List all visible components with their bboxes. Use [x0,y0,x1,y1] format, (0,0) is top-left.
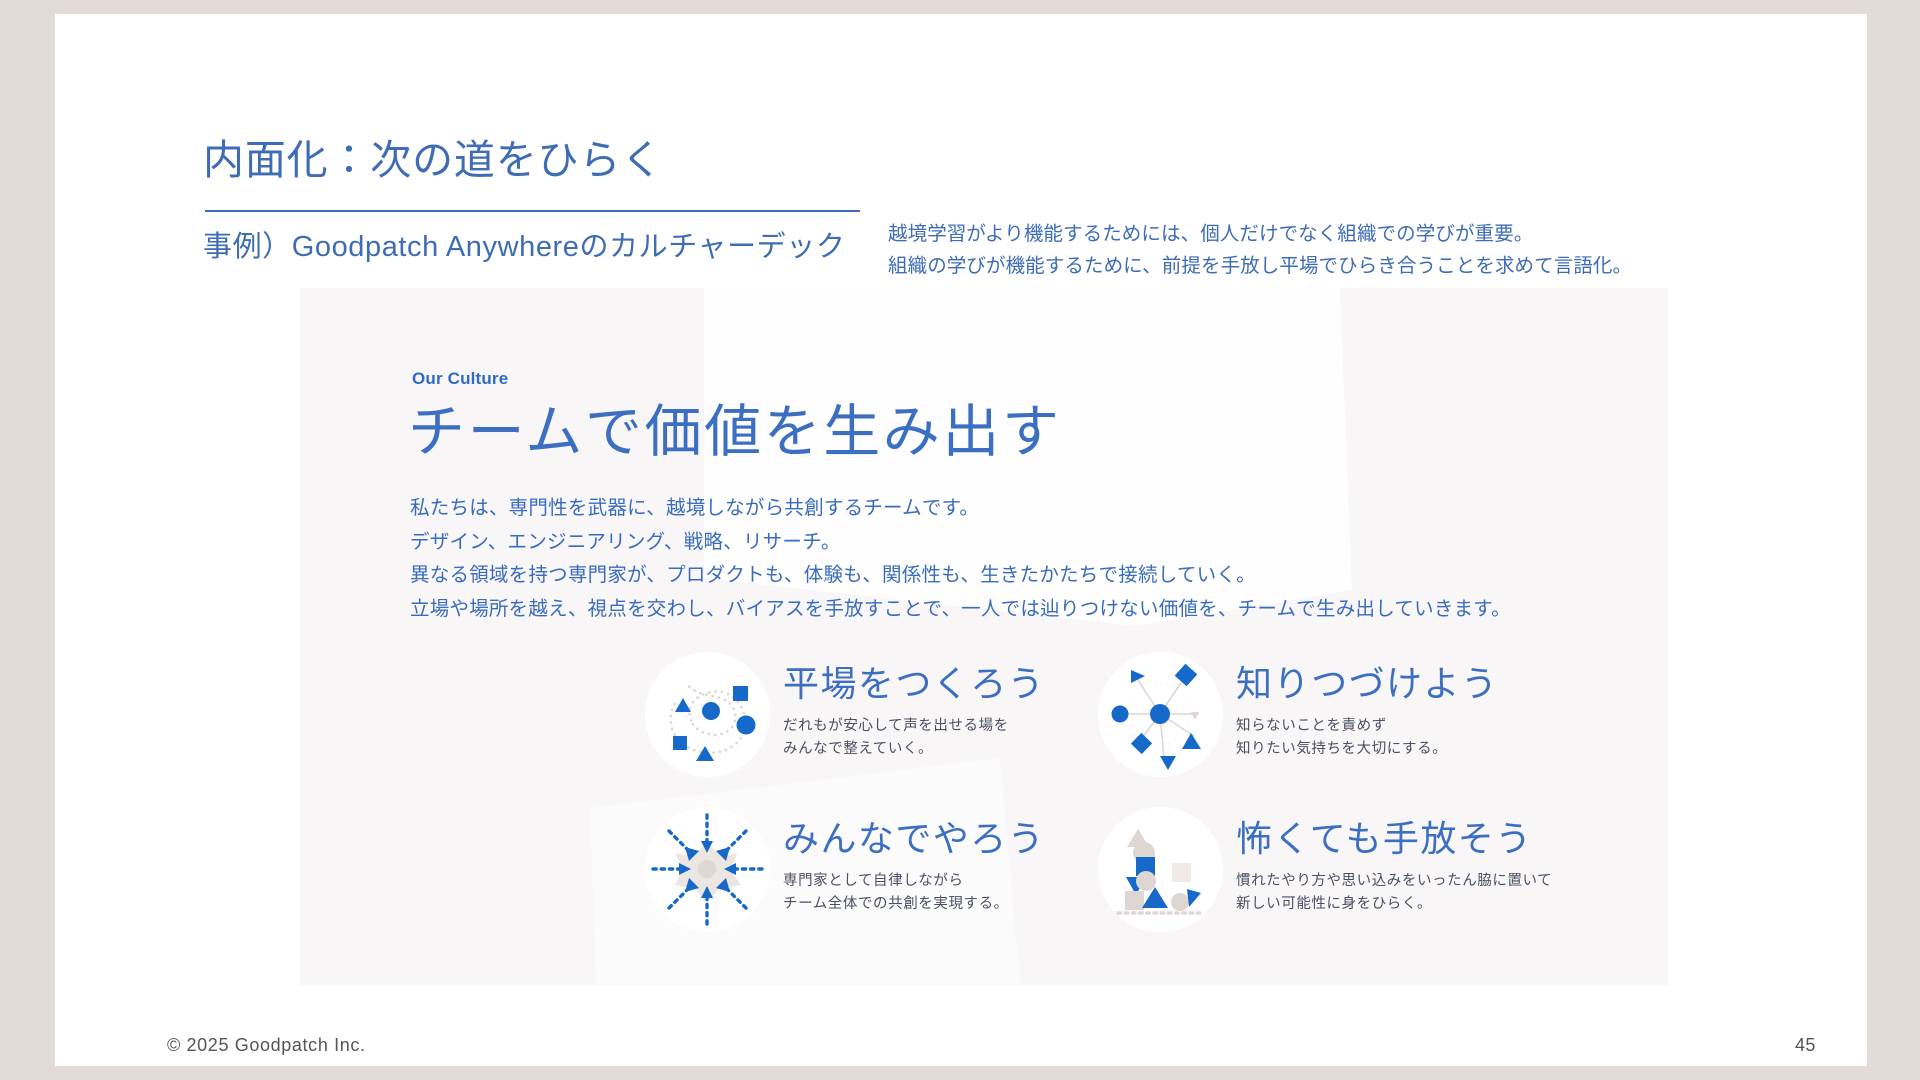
converging-arrows-icon [645,807,770,932]
value-card-desc-line: 新しい可能性に身をひらく。 [1236,893,1552,916]
value-card-desc-line: 知らないことを責めず [1236,715,1498,738]
footer-page-number: 45 [1795,1035,1816,1056]
radial-hub-icon [1098,652,1223,777]
value-card-title: 平場をつくろう [783,664,1045,704]
value-card-desc-line: 知りたい気持ちを大切にする。 [1236,738,1498,761]
scattered-shapes-icon [645,652,770,777]
value-card-description: 慣れたやり方や思い込みをいったん脇に置いて 新しい可能性に身をひらく。 [1236,870,1552,917]
value-card-title: 知りつづけよう [1236,664,1498,704]
footer-copyright: © 2025 Goodpatch Inc. [167,1035,366,1056]
value-card-description: 専門家として自律しながら チーム全体での共創を実現する。 [783,870,1045,917]
value-card-title: 怖くても手放そう [1236,819,1552,859]
value-card-description: 知らないことを責めず 知りたい気持ちを大切にする。 [1236,715,1498,762]
stacked-shapes-icon [1098,807,1223,932]
value-card-desc-line: 専門家として自律しながら [783,870,1045,893]
slide-frame: 内面化：次の道をひらく 事例）Goodpatch Anywhereのカルチャーデ… [55,14,1867,1066]
value-card-desc-line: チーム全体での共創を実現する。 [783,893,1045,916]
value-card-description: だれもが安心して声を出せる場を みんなで整えていく。 [783,715,1045,762]
value-card-text: みんなでやろう 専門家として自律しながら チーム全体での共創を実現する。 [770,807,1045,917]
value-card-grid: 平場をつくろう だれもが安心して声を出せる場を みんなで整えていく。 [55,14,1867,1066]
value-card-text: 平場をつくろう だれもが安心して声を出せる場を みんなで整えていく。 [770,652,1045,762]
value-card-text: 怖くても手放そう 慣れたやり方や思い込みをいったん脇に置いて 新しい可能性に身を… [1223,807,1552,917]
value-card-desc-line: だれもが安心して声を出せる場を [783,715,1045,738]
value-card-desc-line: 慣れたやり方や思い込みをいったん脇に置いて [1236,870,1552,893]
value-card-text: 知りつづけよう 知らないことを責めず 知りたい気持ちを大切にする。 [1223,652,1498,762]
value-card: 平場をつくろう だれもが安心して声を出せる場を みんなで整えていく。 [645,652,1045,777]
value-card: 怖くても手放そう 慣れたやり方や思い込みをいったん脇に置いて 新しい可能性に身を… [1098,807,1552,932]
value-card: みんなでやろう 専門家として自律しながら チーム全体での共創を実現する。 [645,807,1045,932]
value-card: 知りつづけよう 知らないことを責めず 知りたい気持ちを大切にする。 [1098,652,1498,777]
value-card-desc-line: みんなで整えていく。 [783,738,1045,761]
value-card-title: みんなでやろう [783,819,1045,859]
